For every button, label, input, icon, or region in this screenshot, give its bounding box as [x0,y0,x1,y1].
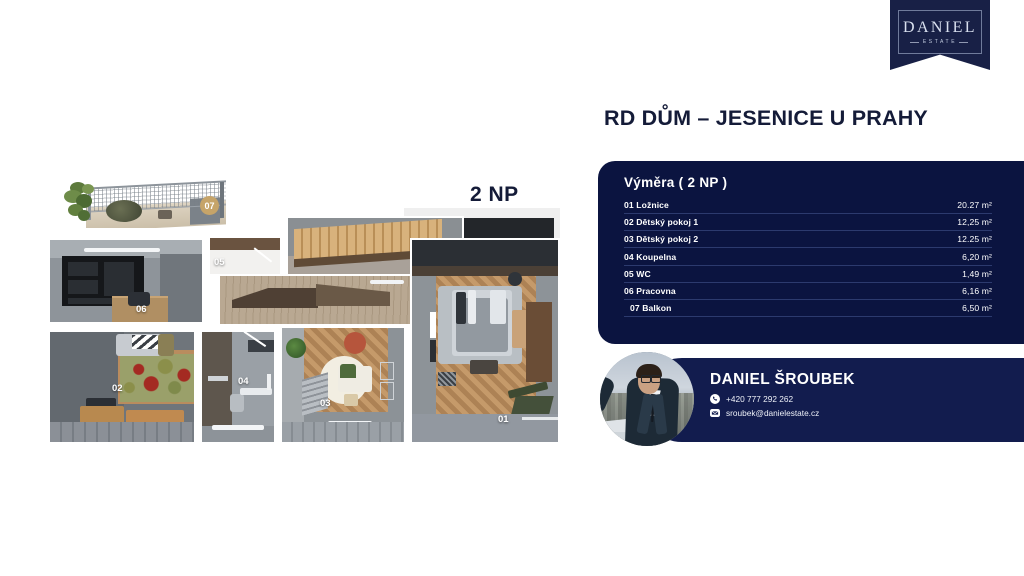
area-row-value: 6,50 m² [962,303,992,313]
contact-details: DANIEL ŠROUBEK +420 777 292 262 [710,371,855,418]
room-number-label-02: 02 [112,383,123,394]
pillow-dark [456,292,466,324]
wall-frame-1 [380,362,394,380]
area-table-title: Výměra ( 2 NP ) [624,175,992,190]
presentation-slide: DANIEL ESTATE RD DŮM – JESENICE U PRAHY … [0,0,1024,576]
area-row-label: 07 Balkon [624,303,672,313]
area-row-value: 6,16 m² [962,286,992,296]
area-row-label: 05 WC [624,269,651,279]
logo-wordmark: DANIEL [903,20,977,36]
room-number-label-06: 06 [136,304,147,315]
contact-phone-row[interactable]: +420 777 292 262 [710,394,855,404]
toilet [230,394,244,412]
ceiling-band [412,266,558,276]
hall-light-strip [370,280,404,284]
wall-shelf [208,376,228,381]
logo-tagline: ESTATE [923,39,957,45]
floorplan-3d-render: 07 06 05 [48,176,560,444]
room-number-label-01: 01 [498,414,509,425]
room-03-detsky-pokoj-2 [280,326,406,444]
pillow-side [490,290,506,324]
room-06-pracovna [48,238,204,324]
table-row: 02 Dětský pokoj 1 12,25 m² [624,213,992,230]
wall-disc-decor [344,332,366,354]
avatar-glasses-left [641,375,651,383]
room-number-badge-07: 07 [200,196,219,215]
table-row: 07 Balkon 6,50 m² [624,299,992,316]
room-05-wc [208,236,282,276]
figure [158,334,174,356]
stair-edge [302,372,328,415]
floor-rail [522,417,560,420]
wardrobe [526,302,552,382]
dark-ceiling [412,240,558,268]
area-row-value: 1,49 m² [962,269,992,279]
agent-name: DANIEL ŠROUBEK [710,371,855,389]
area-row-label: 01 Ložnice [624,200,669,210]
wall-frame-2 [380,382,394,400]
contact-email-row[interactable]: sroubek@danielestate.cz [710,408,855,418]
phone-number: +420 777 292 262 [726,394,793,404]
avatar-lapel-right [652,394,668,435]
room-number-label-03: 03 [320,398,331,409]
balcony-furniture [158,210,172,219]
phone-icon [710,394,720,404]
daniel-estate-logo: DANIEL ESTATE [890,0,990,70]
table-row: 06 Pracovna 6,16 m² [624,282,992,299]
table-row: 05 WC 1,49 m² [624,265,992,282]
agent-avatar [600,352,694,446]
ceiling-light-strip [84,248,160,252]
door-white [430,312,436,338]
area-row-value: 12,25 m² [957,217,992,227]
plant [286,338,306,358]
stool [344,394,358,406]
patterned-rug [120,354,196,402]
envelope-icon [710,408,720,418]
room-number-label-05: 05 [214,257,225,268]
email-address: sroubek@danielestate.cz [726,408,819,418]
ceiling-lamp [508,272,522,286]
table-row: 03 Dětský pokoj 2 12.25 m² [624,230,992,247]
small-rug [438,372,456,386]
avatar-glasses-right [651,375,661,383]
balcony-tree [64,180,116,224]
balcony-post-right [220,182,224,218]
table-row: 04 Koupelna 6,20 m² [624,247,992,264]
floor [50,422,194,442]
door-edge [267,374,271,390]
area-table-panel: Výměra ( 2 NP ) 01 Ložnice 20.27 m² 02 D… [598,161,1024,344]
contact-card: DANIEL ŠROUBEK +420 777 292 262 [640,358,1024,442]
area-row-label: 03 Dětský pokoj 2 [624,234,698,244]
room-number-label-04: 04 [238,376,249,387]
area-row-value: 6,20 m² [962,252,992,262]
area-row-value: 12.25 m² [957,234,992,244]
area-row-label: 06 Pracovna [624,286,676,296]
table-row: 01 Ložnice 20.27 m² [624,199,992,213]
logo-frame: DANIEL ESTATE [898,10,982,54]
bath-mat [212,425,264,430]
table-bottom-rule [624,316,992,317]
area-row-label: 02 Dětský pokoj 1 [624,217,698,227]
room-01-loznice [410,238,560,444]
bed-bench [470,360,498,374]
door-dark [430,340,436,362]
floor [282,422,404,442]
bed-blanket [132,335,158,349]
area-row-label: 04 Koupelna [624,252,676,262]
room-04-koupelna [200,330,276,444]
area-row-value: 20.27 m² [957,200,992,210]
page-title: RD DŮM – JESENICE U PRAHY [604,106,928,131]
pillow-light [468,290,476,324]
area-table-rows: 01 Ložnice 20.27 m² 02 Dětský pokoj 1 12… [624,199,992,317]
chair [340,364,356,378]
